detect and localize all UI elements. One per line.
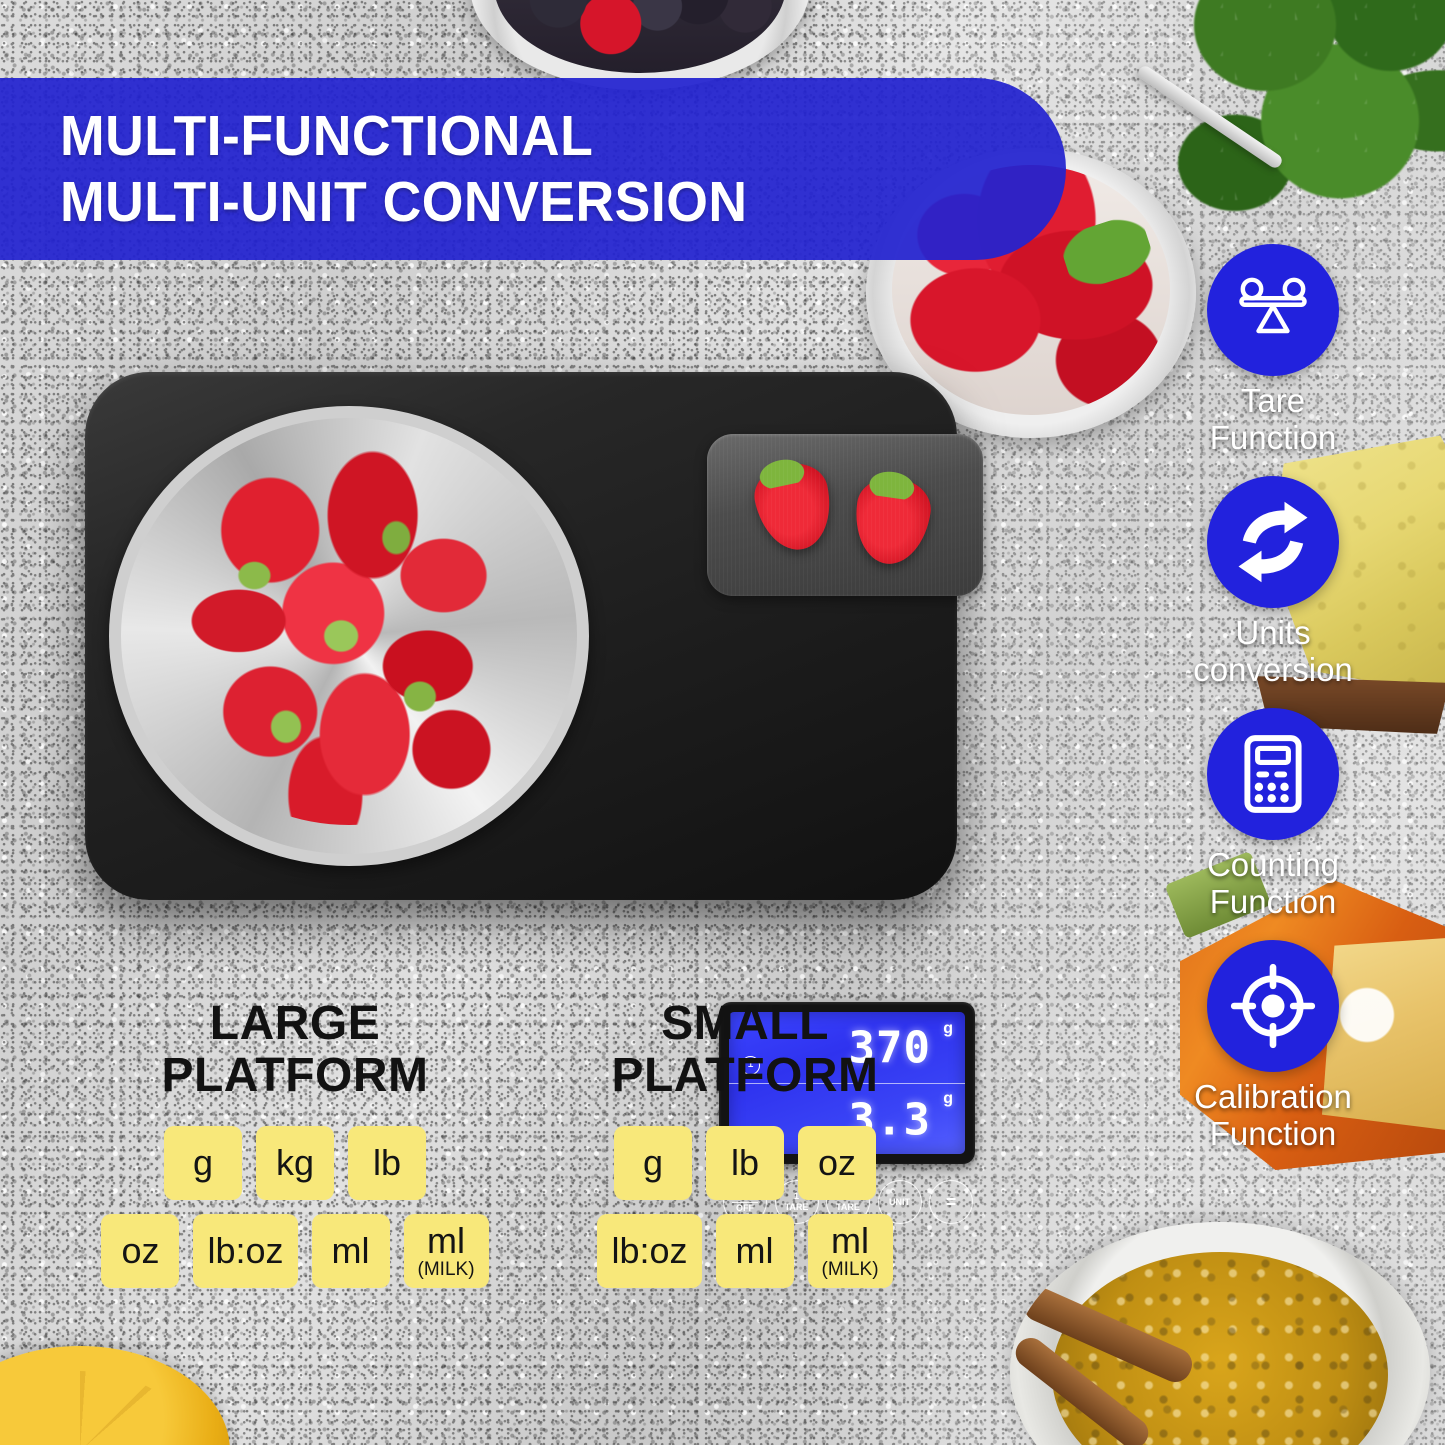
spinach-leaves-photo (1175, 0, 1445, 220)
unit-tag: lb (348, 1126, 426, 1200)
unit-tag: ml (MILK) (808, 1214, 893, 1288)
feature-calibration-label-line2: Function (1158, 1115, 1388, 1152)
small-platform-section: SMALL PLATFORM g lb oz lb:oz ml ml (MILK… (520, 998, 970, 1302)
large-platform-title-line2: PLATFORM (70, 1050, 520, 1102)
headline-line-1: MULTI-FUNCTIONAL (60, 103, 1006, 169)
unit-tag-label: ml (427, 1222, 465, 1260)
feature-list: Tare Function Units conversion (1158, 244, 1388, 1172)
large-platform-tag-row-2: oz lb:oz ml ml (MILK) (70, 1214, 520, 1288)
unit-tag-sublabel: (MILK) (822, 1260, 879, 1280)
units-conversion-arrows-icon (1207, 476, 1339, 608)
unit-tag: g (164, 1126, 242, 1200)
feature-units-label-line2: conversion (1158, 651, 1388, 688)
unit-tag-label: g (643, 1144, 663, 1182)
mixed-berries (494, 0, 786, 73)
strawberry-on-small-platform (749, 457, 839, 557)
large-platform-tag-row-1: g kg lb (70, 1126, 520, 1200)
unit-tag: lb:oz (597, 1214, 701, 1288)
unit-tag-label: oz (818, 1144, 856, 1182)
large-platform-plate (109, 406, 589, 866)
unit-tag: ml (312, 1214, 390, 1288)
unit-tag: g (614, 1126, 692, 1200)
unit-tag-label: ml (831, 1222, 869, 1260)
headline-banner: MULTI-FUNCTIONAL MULTI-UNIT CONVERSION (0, 78, 1066, 260)
strawberry-cap (753, 453, 810, 491)
large-platform-section: LARGE PLATFORM g kg lb oz lb:oz ml ml (M… (70, 998, 520, 1302)
headline-line-2: MULTI-UNIT CONVERSION (60, 169, 1006, 235)
unit-tag-label: oz (121, 1232, 159, 1270)
small-platform-tag-row-2: lb:oz ml ml (MILK) (520, 1214, 970, 1288)
unit-tag-label: kg (276, 1144, 314, 1182)
platform-unit-tables: LARGE PLATFORM g kg lb oz lb:oz ml ml (M… (70, 998, 970, 1302)
strawberry-cap (865, 466, 920, 501)
feature-tare-label-line1: Tare (1158, 382, 1388, 419)
unit-tag: oz (101, 1214, 179, 1288)
calculator-icon (1207, 708, 1339, 840)
unit-tag-label: lb:oz (207, 1232, 283, 1270)
small-platform-title-line1: SMALL (520, 998, 970, 1050)
feature-calibration-label-line1: Calibration (1158, 1078, 1388, 1115)
unit-tag: ml (MILK) (404, 1214, 489, 1288)
unit-tag: oz (798, 1126, 876, 1200)
unit-tag-label: ml (332, 1232, 370, 1270)
unit-tag: ml (716, 1214, 794, 1288)
kitchen-scale-device: 1 370 g 2 3.3 g ON OFF 1 TARE (85, 372, 957, 900)
feature-units-conversion: Units conversion (1158, 476, 1388, 688)
strawberry-stems (152, 447, 546, 824)
large-platform-title-line1: LARGE (70, 998, 520, 1050)
balance-scale-icon (1207, 244, 1339, 376)
unit-tag: lb (706, 1126, 784, 1200)
unit-tag-label: lb (373, 1144, 401, 1182)
small-platform-plate (707, 434, 983, 596)
unit-tag: kg (256, 1126, 334, 1200)
feature-calibration-function: Calibration Function (1158, 940, 1388, 1152)
small-platform-tag-rows: g lb oz lb:oz ml ml (MILK) (520, 1126, 970, 1288)
feature-counting-label-line1: Counting (1158, 846, 1388, 883)
crosshair-target-icon (1207, 940, 1339, 1072)
small-platform-tag-row-1: g lb oz (520, 1126, 970, 1200)
small-platform-title-line2: PLATFORM (520, 1050, 970, 1102)
unit-tag-sublabel: (MILK) (418, 1260, 475, 1280)
feature-counting-function: Counting Function (1158, 708, 1388, 920)
large-platform-tag-rows: g kg lb oz lb:oz ml ml (MILK) (70, 1126, 520, 1288)
feature-counting-label-line2: Function (1158, 883, 1388, 920)
feature-units-label-line1: Units (1158, 614, 1388, 651)
unit-tag: lb:oz (193, 1214, 297, 1288)
feature-tare-function: Tare Function (1158, 244, 1388, 456)
unit-tag-label: ml (736, 1232, 774, 1270)
product-infographic: MULTI-FUNCTIONAL MULTI-UNIT CONVERSION 1… (0, 0, 1445, 1445)
strawberry-on-small-platform (849, 473, 934, 568)
unit-tag-label: g (193, 1144, 213, 1182)
unit-tag-label: lb:oz (611, 1232, 687, 1270)
feature-tare-label-line2: Function (1158, 419, 1388, 456)
unit-tag-label: lb (731, 1144, 759, 1182)
